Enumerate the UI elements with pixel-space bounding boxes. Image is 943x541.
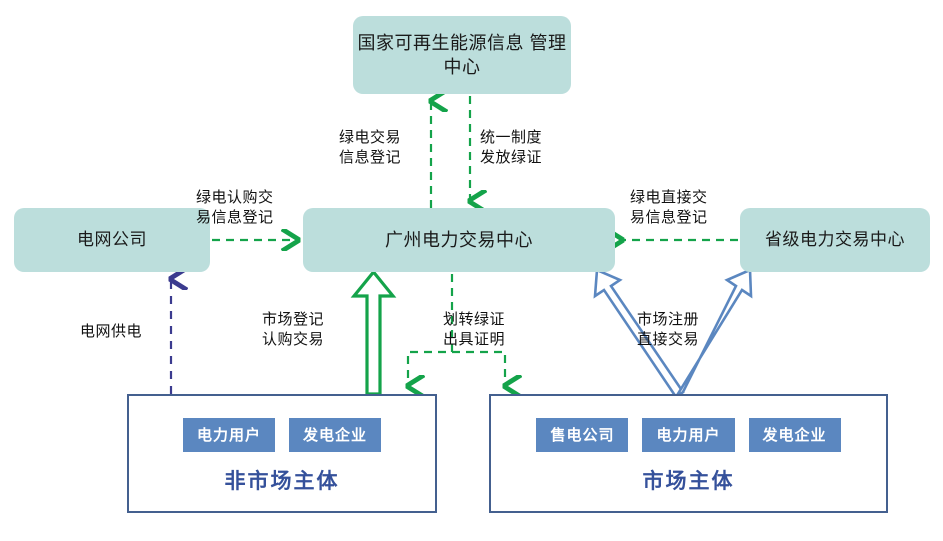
label-purchase-registration: 绿电认购交 易信息登记 (196, 188, 274, 228)
node-national-renewable-info-center[interactable]: 国家可再生能源信息 管理中心 (353, 16, 571, 94)
group-title: 市场主体 (491, 465, 886, 495)
entity-tag[interactable]: 电力用户 (642, 418, 734, 452)
group-title: 非市场主体 (129, 465, 435, 495)
node-provincial-power-exchange-center[interactable]: 省级电力交易中心 (740, 208, 930, 272)
entity-tag[interactable]: 售电公司 (536, 418, 628, 452)
diagram-canvas: down dashed (统一制度发放绿证) --> guangzhou (绿电… (0, 0, 943, 541)
label-market-registration-purchase: 市场登记 认购交易 (262, 310, 324, 350)
block-arrow-market-registration-purchase (354, 272, 393, 394)
entity-tag[interactable]: 发电企业 (749, 418, 841, 452)
group-non-market-entities[interactable]: 电力用户 发电企业 非市场主体 (127, 394, 437, 513)
node-guangzhou-power-exchange-center[interactable]: 广州电力交易中心 (303, 208, 615, 272)
tag-row: 电力用户 发电企业 (129, 418, 435, 452)
entity-tag[interactable]: 电力用户 (183, 418, 275, 452)
group-market-entities[interactable]: 售电公司 电力用户 发电企业 市场主体 (489, 394, 888, 513)
label-direct-trade-registration: 绿电直接交 易信息登记 (630, 188, 708, 228)
label-market-register-direct-trade: 市场注册 直接交易 (637, 310, 699, 350)
node-grid-company[interactable]: 电网公司 (14, 208, 210, 272)
label-green-trade-registration: 绿电交易 信息登记 (339, 128, 401, 168)
label-unified-issue-cert: 统一制度 发放绿证 (480, 128, 542, 168)
entity-tag[interactable]: 发电企业 (289, 418, 381, 452)
label-transfer-cert-proof: 划转绿证 出具证明 (443, 310, 505, 350)
label-grid-power-supply: 电网供电 (80, 322, 142, 342)
tag-row: 售电公司 电力用户 发电企业 (491, 418, 886, 452)
